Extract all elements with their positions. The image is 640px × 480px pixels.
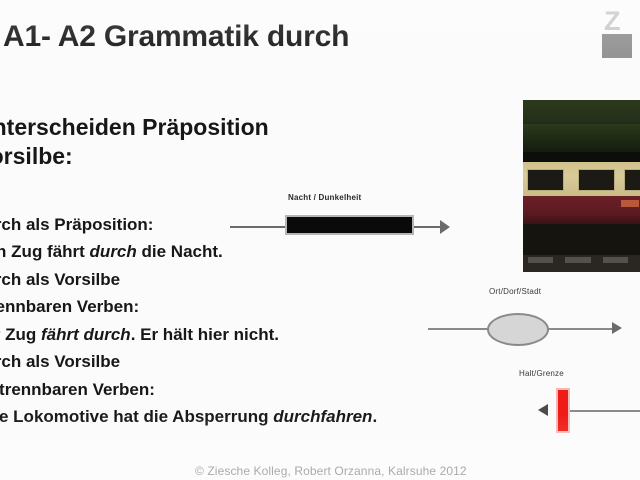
photo-window-1 xyxy=(527,169,564,192)
photo-window-3 xyxy=(624,169,640,192)
body-line-2: Ein Zug fährt durch die Nacht. xyxy=(0,243,223,260)
diagram-3-label: Halt/Grenze xyxy=(519,369,564,378)
presentation-slide: A1- A2 Grammatik durch Z Unterscheiden P… xyxy=(0,0,640,480)
body-line-5-post: . Er hält hier nicht. xyxy=(131,325,279,344)
watermark-box-icon xyxy=(602,34,632,58)
body-line-5: Der Zug fährt durch. Er hält hier nicht. xyxy=(0,326,279,343)
slide-heading: Unterscheiden Präposition Vorsilbe: xyxy=(0,113,269,172)
diagram-1-black-bar xyxy=(285,215,414,235)
body-line-5-pre: Der Zug xyxy=(0,325,41,344)
photo-sleeper-3 xyxy=(603,257,629,264)
body-line-1: durch als Präposition: xyxy=(0,216,153,233)
body-line-8-emphasis: durchfahren xyxy=(273,407,372,426)
body-line-6: durch als Vorsilbe xyxy=(0,353,120,370)
diagram-2-arrowhead-icon xyxy=(612,322,622,334)
body-line-2-pre: Ein Zug fährt xyxy=(0,242,90,261)
body-line-8-post: . xyxy=(372,407,377,426)
body-line-5-emphasis: fährt durch xyxy=(41,325,131,344)
diagram-1-label: Nacht / Dunkelheit xyxy=(288,193,361,202)
diagram-2-label: Ort/Dorf/Stadt xyxy=(489,287,541,296)
photo-sleeper-2 xyxy=(565,257,591,264)
body-line-2-post: die Nacht. xyxy=(137,242,223,261)
photo-window-2 xyxy=(578,169,615,192)
heading-line-1: Unterscheiden Präposition xyxy=(0,114,269,140)
watermark-letter: Z xyxy=(604,8,621,35)
diagram-2-ellipse xyxy=(487,313,549,346)
body-line-7: bei untrennbaren Verben: xyxy=(0,381,155,398)
body-line-4: bei trennbaren Verben: xyxy=(0,298,139,315)
body-line-8-pre: Die Lokomotive hat die Absperrung xyxy=(0,407,273,426)
diagram-3-arrow-line xyxy=(568,410,640,412)
train-photo xyxy=(523,100,640,272)
body-line-2-emphasis: durch xyxy=(90,242,137,261)
logo-watermark: Z xyxy=(596,8,636,66)
heading-line-2: Vorsilbe: xyxy=(0,142,269,171)
photo-carriage-marking xyxy=(621,200,639,207)
photo-undercarriage xyxy=(523,224,640,255)
photo-sleeper-1 xyxy=(528,257,554,264)
body-line-8: Die Lokomotive hat die Absperrung durchf… xyxy=(0,408,377,425)
photo-roofline xyxy=(523,152,640,162)
diagram-1-arrowhead-icon xyxy=(440,220,450,234)
body-line-3: durch als Vorsilbe xyxy=(0,271,120,288)
diagram-3-red-barrier xyxy=(556,388,570,433)
slide-title: A1- A2 Grammatik durch xyxy=(3,20,349,54)
copyright-footer: © Ziesche Kolleg, Robert Orzanna, Kalrsu… xyxy=(195,464,467,478)
diagram-3-arrowhead-icon xyxy=(538,404,548,416)
